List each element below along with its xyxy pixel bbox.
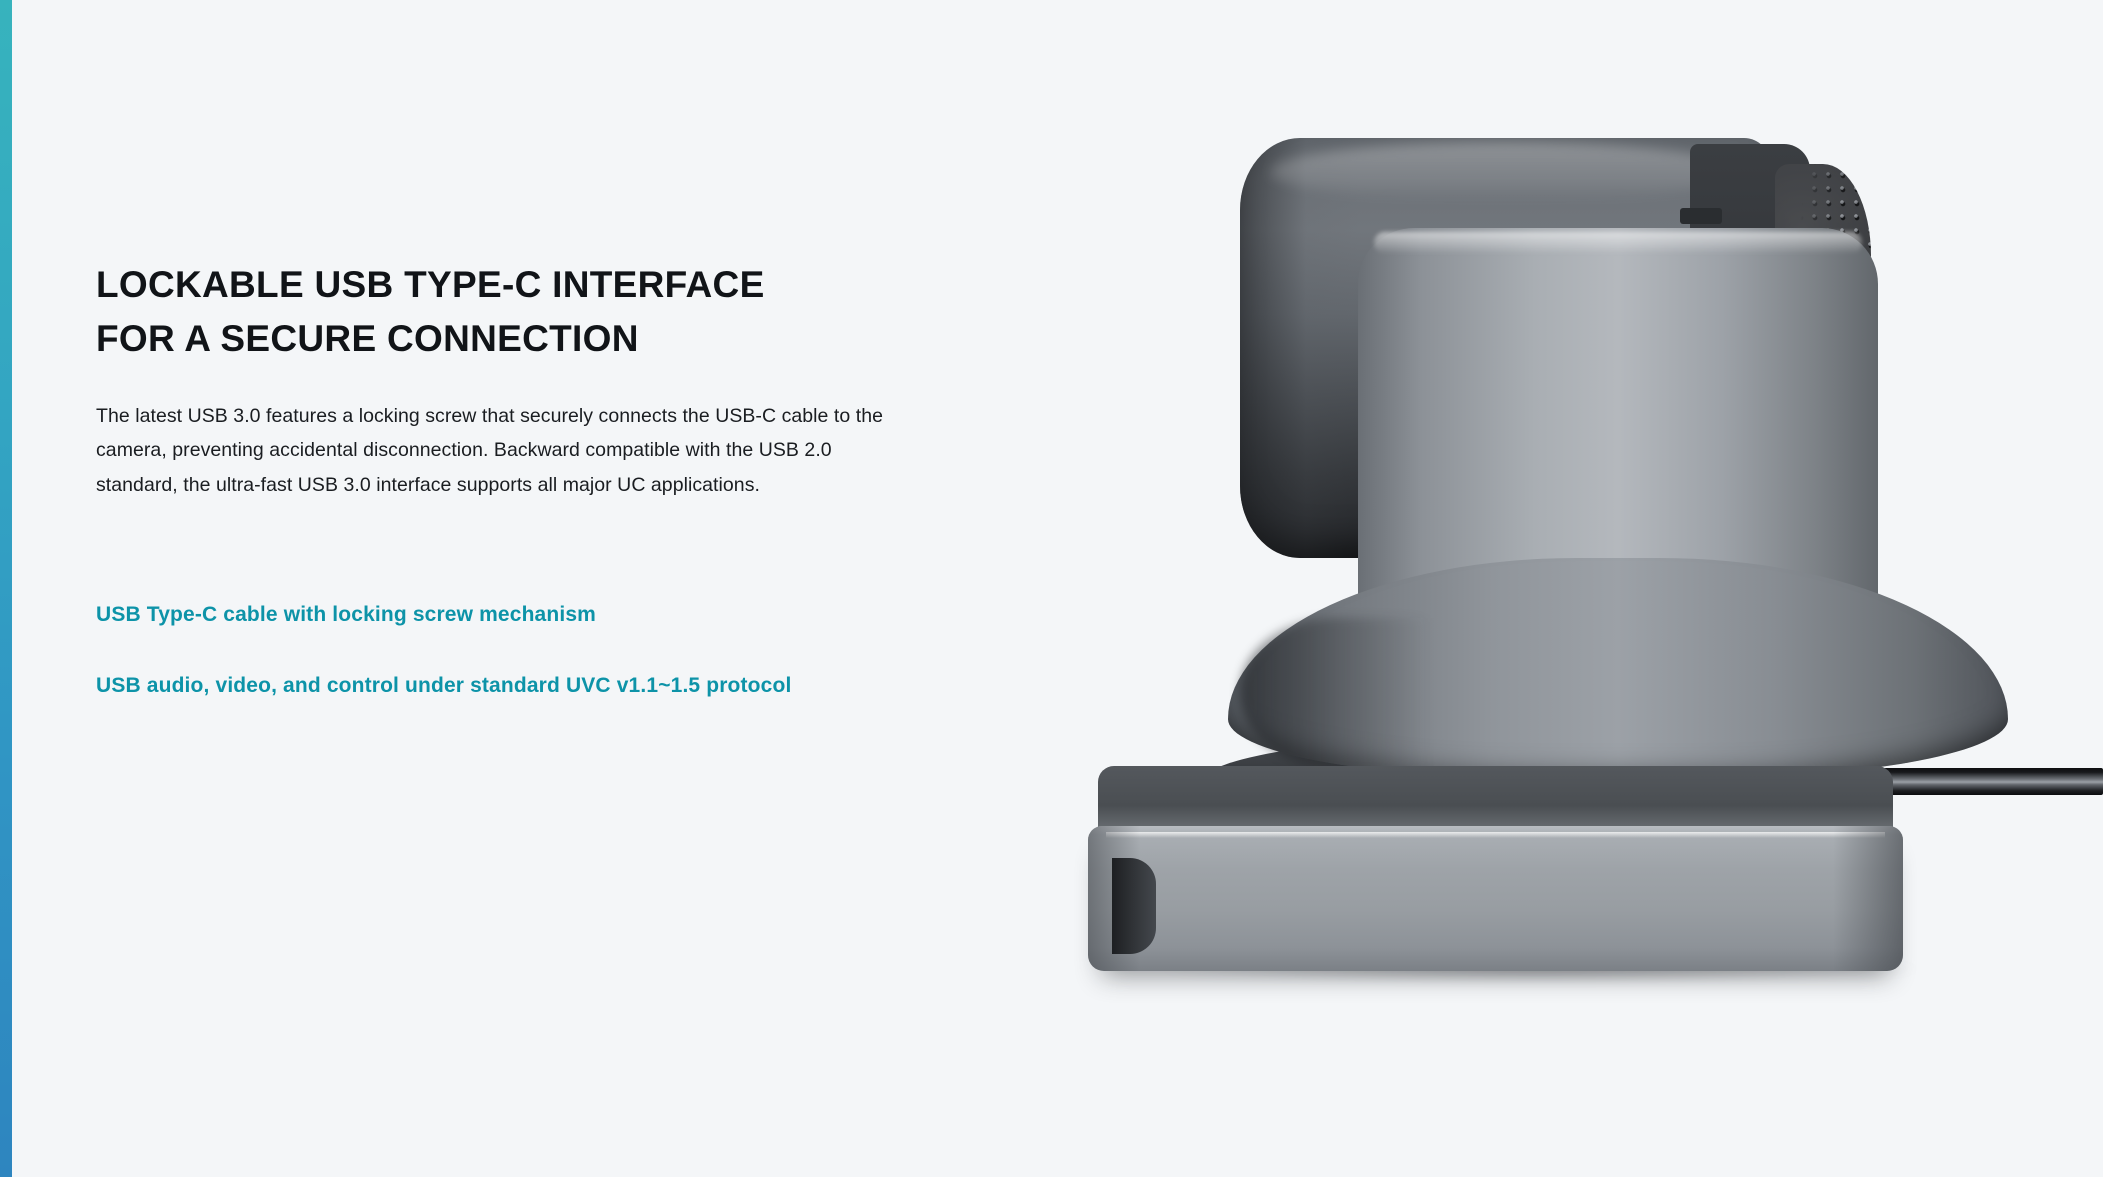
feature-list: USB Type-C cable with locking screw mech… <box>96 601 956 701</box>
feature-item-uvc-protocol: USB audio, video, and control under stan… <box>96 672 956 701</box>
headline-line-2: FOR A SECURE CONNECTION <box>96 312 956 366</box>
base-front-highlight <box>1106 832 1885 838</box>
base-front-face <box>1088 826 1903 971</box>
silver-neck-column <box>1358 228 1878 748</box>
product-image-ptz-camera <box>1130 130 2103 950</box>
body-paragraph: The latest USB 3.0 features a locking sc… <box>96 399 886 503</box>
aluminium-base <box>1088 766 1903 971</box>
neck-top-highlight <box>1374 232 1862 254</box>
neck-left-shadow <box>1240 618 1430 768</box>
base-side-notch <box>1112 858 1156 954</box>
camera-head-barrel-cap <box>1240 138 1360 558</box>
left-accent-bar <box>0 0 12 1177</box>
base-right-bevel <box>1833 826 1903 971</box>
copy-column: LOCKABLE USB TYPE-C INTERFACE FOR A SECU… <box>96 258 956 701</box>
headline-line-1: LOCKABLE USB TYPE-C INTERFACE <box>96 258 956 312</box>
feature-item-usb-cable: USB Type-C cable with locking screw mech… <box>96 601 956 630</box>
page-title: LOCKABLE USB TYPE-C INTERFACE FOR A SECU… <box>96 258 956 367</box>
camera-head-highlight <box>1270 142 1740 202</box>
camera-head-notch-top <box>1680 208 1722 224</box>
